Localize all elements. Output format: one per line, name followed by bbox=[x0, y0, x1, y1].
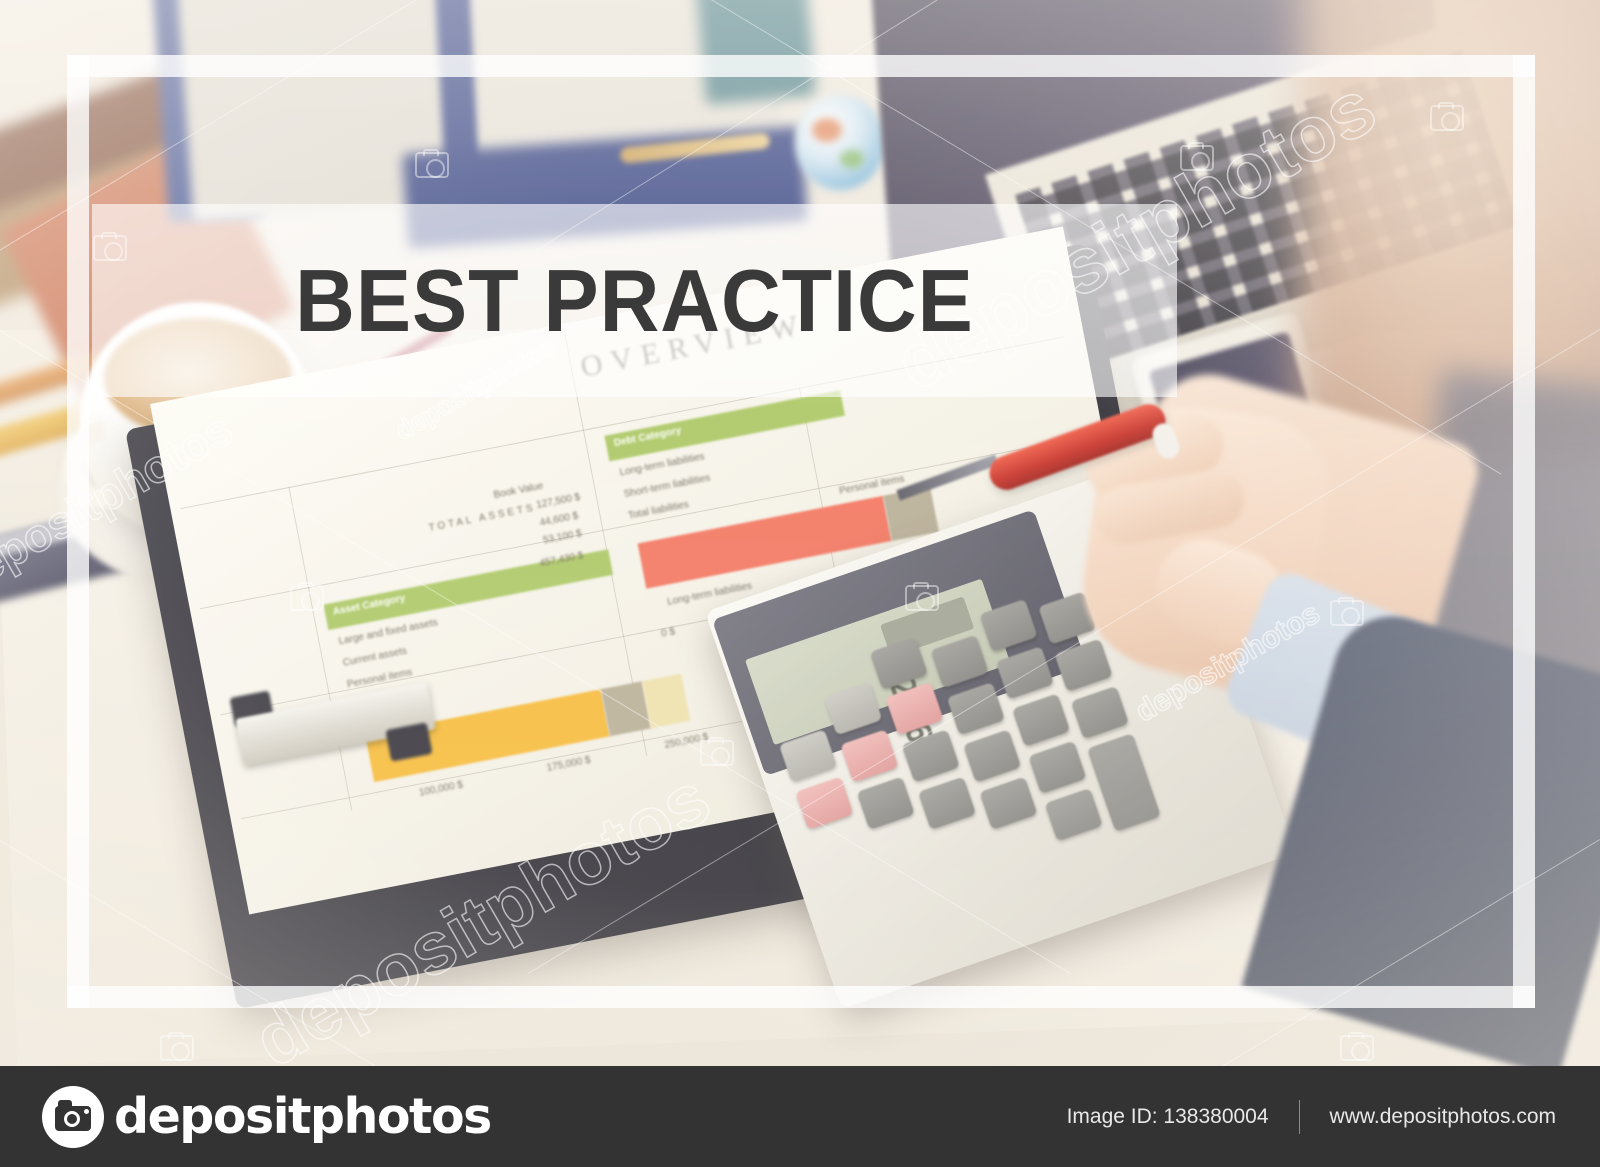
website-link[interactable]: www.depositphotos.com bbox=[1330, 1105, 1556, 1129]
vignette-fade-overlay bbox=[0, 0, 1600, 1066]
footer-meta: Image ID: 138380004 www.depositphotos.co… bbox=[1067, 1100, 1556, 1134]
frame-border-right bbox=[1513, 55, 1535, 1008]
footer-divider bbox=[1299, 1100, 1300, 1134]
frame-border-top bbox=[67, 55, 1535, 77]
frame-border-left bbox=[67, 55, 89, 1008]
page-title: BEST PRACTICE bbox=[125, 204, 1145, 397]
camera-icon bbox=[42, 1086, 104, 1148]
stock-photo: OVERVIEW Asset Category Debt Category La… bbox=[0, 0, 1600, 1066]
screenshot-root: OVERVIEW Asset Category Debt Category La… bbox=[0, 0, 1600, 1167]
brand-logo[interactable]: depositphotos bbox=[42, 1086, 491, 1148]
brand-name: depositphotos bbox=[114, 1088, 491, 1145]
frame-border-bottom bbox=[67, 986, 1535, 1008]
depositphotos-footer-bar: depositphotos Image ID: 138380004 www.de… bbox=[0, 1066, 1600, 1167]
image-id-label: Image ID: 138380004 bbox=[1067, 1105, 1269, 1129]
